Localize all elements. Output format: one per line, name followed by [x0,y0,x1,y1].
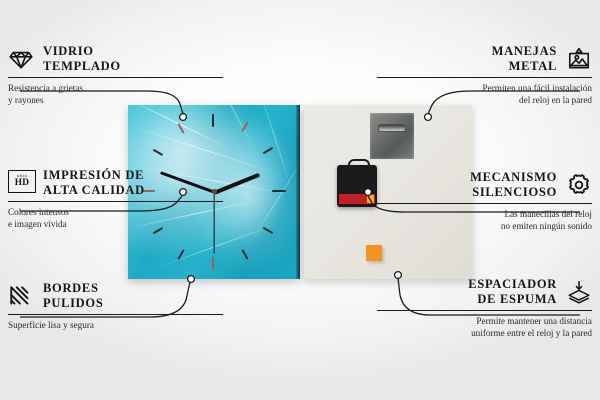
feature-desc-line2: y rayones [8,95,43,105]
feature-bordes-pulidos[interactable]: BORDES PULIDOS Superficie lisa y segura [8,281,223,331]
feature-title: IMPRESIÓN DE ALTA CALIDAD [43,168,145,198]
hour-mark-3 [272,190,286,192]
feature-header: ultra HD IMPRESIÓN DE ALTA CALIDAD [8,168,223,198]
feature-desc-line2: e imagen vívida [8,219,67,229]
feature-header: ESPACIADOR DE ESPUMA [377,277,592,307]
mechanism-label-stripe [367,195,374,203]
feature-divider [8,77,223,78]
feature-title: VIDRIO TEMPLADO [43,44,121,74]
feature-header: MANEJAS METAL [377,44,592,74]
feature-description: Permiten una fácil instalación del reloj… [377,82,592,106]
foam-spacer [366,245,382,261]
hour-mark-12 [212,114,214,127]
hour-mark-6 [212,257,214,270]
feature-title: ESPACIADOR DE ESPUMA [468,277,557,307]
feature-desc-line1: Las manecillas del reloj [504,209,592,219]
gear-icon [566,172,592,198]
framed-picture-hanging-icon [566,46,592,72]
feature-divider [377,77,592,78]
feature-vidrio-templado[interactable]: VIDRIO TEMPLADO Resistencia a grietas y … [8,44,223,106]
infographic-canvas: VIDRIO TEMPLADO Resistencia a grietas y … [0,0,600,400]
feature-divider [8,314,223,315]
feature-desc-line1: Colores intensos [8,207,69,217]
feature-desc-line2: no emiten ningún sonido [501,221,592,231]
diagonal-lines-icon [8,283,34,309]
feature-desc-line1: Permite mantener una distancia [476,316,592,326]
clock-mechanism [337,165,377,207]
mechanism-hook [348,159,370,171]
hd-badge-hd-text: HD [15,179,29,188]
feature-header: BORDES PULIDOS [8,281,223,311]
feature-title-line2: TEMPLADO [43,59,121,73]
feature-description: Superficie lisa y segura [8,319,223,331]
feature-header: VIDRIO TEMPLADO [8,44,223,74]
feature-description: Resistencia a grietas y rayones [8,82,223,106]
feature-title: BORDES PULIDOS [43,281,103,311]
feature-title-line2: DE ESPUMA [477,292,557,306]
arrow-onto-foam-layer-icon [566,279,592,305]
feature-mecanismo-silencioso[interactable]: MECANISMO SILENCIOSO Las manecillas del … [377,170,592,232]
feature-description: Colores intensos e imagen vívida [8,206,223,230]
feature-espaciador-de-espuma[interactable]: ESPACIADOR DE ESPUMA Permite mantener un… [377,277,592,339]
feature-title-line2: METAL [509,59,557,73]
feature-title: MECANISMO SILENCIOSO [470,170,557,200]
feature-desc-line2: uniforme entre el reloj y la pared [471,328,592,338]
feature-divider [8,201,223,202]
feature-title-line1: ESPACIADOR [468,277,557,291]
diamond-icon [8,46,34,72]
feature-title-line1: VIDRIO [43,44,94,58]
feature-title: MANEJAS METAL [492,44,557,74]
hd-badge: ultra HD [8,170,36,193]
feature-title-line1: MECANISMO [470,170,557,184]
ultra-hd-badge-icon: ultra HD [8,170,34,196]
hanger-slot [378,124,406,132]
feature-title-line1: MANEJAS [492,44,557,58]
feature-impresion-alta-calidad[interactable]: ultra HD IMPRESIÓN DE ALTA CALIDAD Color… [8,168,223,230]
feature-manejas-metal[interactable]: MANEJAS METAL Permiten una fácil instala… [377,44,592,106]
feature-title-line2: SILENCIOSO [472,185,557,199]
feature-desc-line1: Superficie lisa y segura [8,320,94,330]
metal-hanger-plate [370,113,414,159]
feature-title-line2: PULIDOS [43,296,103,310]
feature-title-line1: IMPRESIÓN DE [43,168,144,182]
feature-desc-line1: Resistencia a grietas [8,83,83,93]
feature-divider [377,203,592,204]
feature-divider [377,310,592,311]
feature-description: Las manecillas del reloj no emiten ningú… [377,208,592,232]
feature-description: Permite mantener una distancia uniforme … [377,315,592,339]
feature-header: MECANISMO SILENCIOSO [377,170,592,200]
mechanism-label [339,194,375,204]
feature-title-line2: ALTA CALIDAD [43,183,145,197]
feature-desc-line1: Permiten una fácil instalación [483,83,592,93]
feature-title-line1: BORDES [43,281,99,295]
feature-desc-line2: del reloj en la pared [519,95,592,105]
